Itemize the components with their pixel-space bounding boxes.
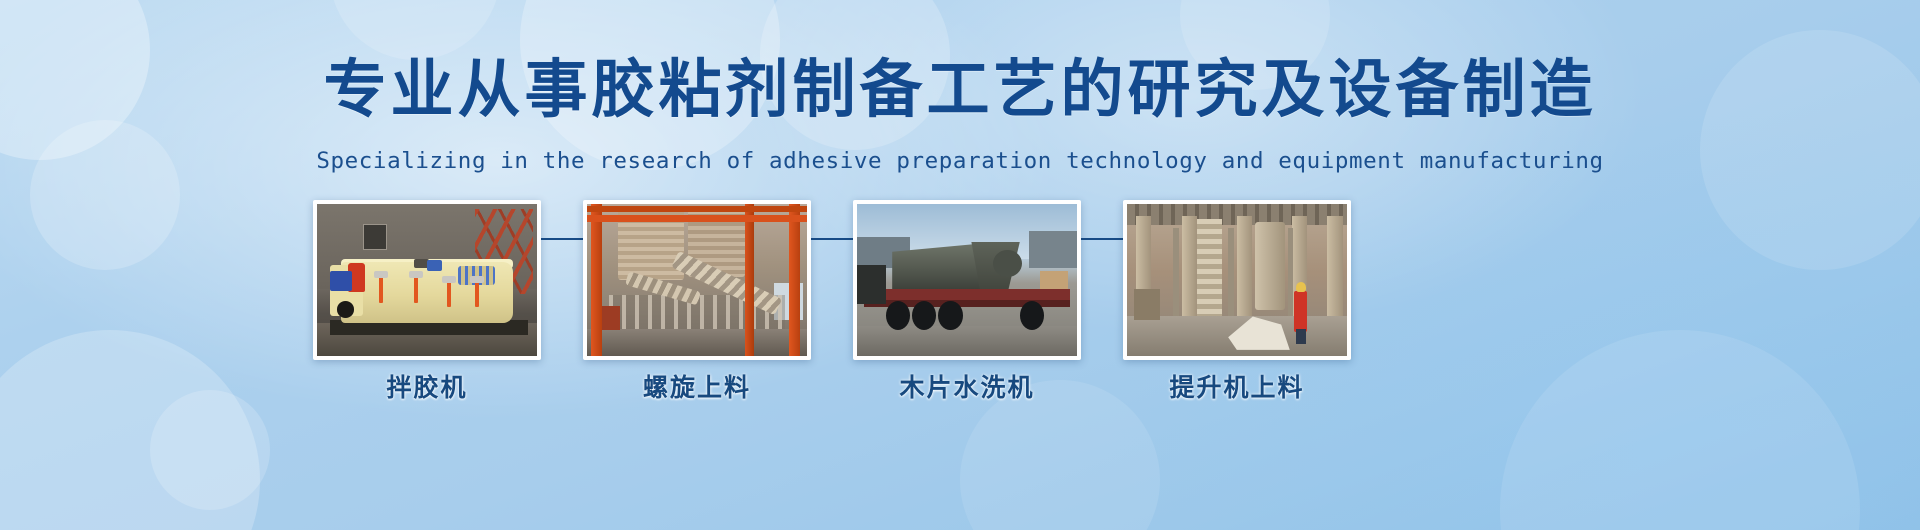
card-caption-1: 拌胶机: [297, 368, 557, 404]
bokeh-circle: [330, 0, 500, 60]
process-card-2[interactable]: [583, 200, 811, 360]
screw-conveyor-photo: [587, 204, 807, 356]
connector-line-1: [541, 238, 583, 240]
page-subtitle: Specializing in the research of adhesive…: [0, 148, 1920, 174]
card-caption-4: 提升机上料: [1107, 368, 1367, 404]
wood-chip-washer-photo: [857, 204, 1077, 356]
connector-line-3: [1081, 238, 1123, 240]
card-caption-3: 木片水洗机: [837, 368, 1097, 404]
bucket-elevator-photo: [1127, 204, 1347, 356]
connector-line-2: [811, 238, 853, 240]
process-card-3[interactable]: [853, 200, 1081, 360]
glue-mixer-photo: [317, 204, 537, 356]
process-card-row: 拌胶机 螺旋上料: [0, 200, 1920, 460]
page-title: 专业从事胶粘剂制备工艺的研究及设备制造: [0, 58, 1920, 121]
hero-banner: 专业从事胶粘剂制备工艺的研究及设备制造 Specializing in the …: [0, 0, 1920, 530]
card-caption-2: 螺旋上料: [567, 368, 827, 404]
process-card-4[interactable]: [1123, 200, 1351, 360]
process-card-1[interactable]: [313, 200, 541, 360]
